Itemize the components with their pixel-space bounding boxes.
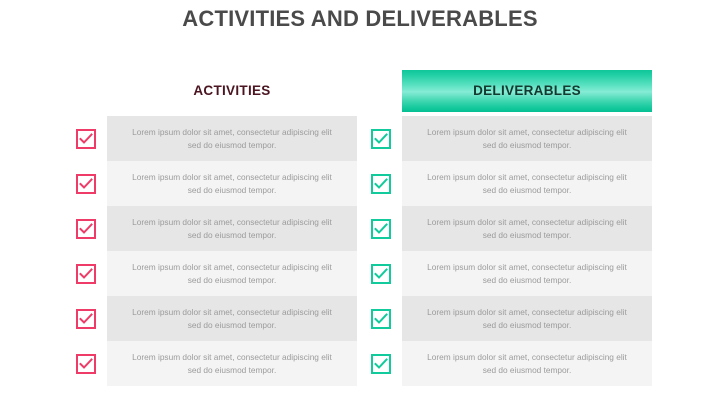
rows-activities: Lorem ipsum dolor sit amet, consectetur … bbox=[70, 116, 357, 386]
column-header-deliverables[interactable]: DELIVERABLES bbox=[402, 70, 652, 112]
row-panel: Lorem ipsum dolor sit amet, consectetur … bbox=[402, 296, 652, 341]
checkmark-icon bbox=[79, 358, 93, 370]
rows-deliverables: Lorem ipsum dolor sit amet, consectetur … bbox=[365, 116, 652, 386]
table-row[interactable]: Lorem ipsum dolor sit amet, consectetur … bbox=[70, 161, 357, 206]
columns-container: ACTIVITIES Lorem ipsum dolor sit amet, c… bbox=[0, 70, 720, 390]
checkbox-activities-2[interactable] bbox=[76, 174, 96, 194]
checkmark-icon bbox=[79, 223, 93, 235]
checkbox-activities-1[interactable] bbox=[76, 129, 96, 149]
checkmark-icon bbox=[79, 268, 93, 280]
checkbox-activities-6[interactable] bbox=[76, 354, 96, 374]
row-text: Lorem ipsum dolor sit amet, consectetur … bbox=[132, 126, 332, 152]
row-text: Lorem ipsum dolor sit amet, consectetur … bbox=[132, 306, 332, 332]
row-panel: Lorem ipsum dolor sit amet, consectetur … bbox=[402, 206, 652, 251]
table-row[interactable]: Lorem ipsum dolor sit amet, consectetur … bbox=[70, 116, 357, 161]
row-text: Lorem ipsum dolor sit amet, consectetur … bbox=[132, 261, 332, 287]
row-text: Lorem ipsum dolor sit amet, consectetur … bbox=[132, 351, 332, 377]
table-row[interactable]: Lorem ipsum dolor sit amet, consectetur … bbox=[365, 161, 652, 206]
checkmark-icon bbox=[374, 268, 388, 280]
table-row[interactable]: Lorem ipsum dolor sit amet, consectetur … bbox=[70, 341, 357, 386]
checkbox-deliverables-4[interactable] bbox=[371, 264, 391, 284]
row-text: Lorem ipsum dolor sit amet, consectetur … bbox=[427, 216, 627, 242]
checkmark-icon bbox=[374, 313, 388, 325]
row-panel: Lorem ipsum dolor sit amet, consectetur … bbox=[107, 296, 357, 341]
checkbox-activities-5[interactable] bbox=[76, 309, 96, 329]
row-panel: Lorem ipsum dolor sit amet, consectetur … bbox=[402, 116, 652, 161]
row-text: Lorem ipsum dolor sit amet, consectetur … bbox=[132, 171, 332, 197]
row-text: Lorem ipsum dolor sit amet, consectetur … bbox=[427, 261, 627, 287]
row-text: Lorem ipsum dolor sit amet, consectetur … bbox=[427, 306, 627, 332]
checkmark-icon bbox=[374, 358, 388, 370]
table-row[interactable]: Lorem ipsum dolor sit amet, consectetur … bbox=[365, 116, 652, 161]
column-activities: ACTIVITIES Lorem ipsum dolor sit amet, c… bbox=[70, 70, 357, 386]
column-header-activities[interactable]: ACTIVITIES bbox=[107, 70, 357, 112]
checkmark-icon bbox=[374, 178, 388, 190]
row-text: Lorem ipsum dolor sit amet, consectetur … bbox=[427, 351, 627, 377]
table-row[interactable]: Lorem ipsum dolor sit amet, consectetur … bbox=[70, 206, 357, 251]
row-panel: Lorem ipsum dolor sit amet, consectetur … bbox=[402, 341, 652, 386]
checkmark-icon bbox=[79, 133, 93, 145]
row-panel: Lorem ipsum dolor sit amet, consectetur … bbox=[107, 161, 357, 206]
checkbox-deliverables-2[interactable] bbox=[371, 174, 391, 194]
row-panel: Lorem ipsum dolor sit amet, consectetur … bbox=[402, 251, 652, 296]
table-row[interactable]: Lorem ipsum dolor sit amet, consectetur … bbox=[70, 296, 357, 341]
column-deliverables: DELIVERABLES Lorem ipsum dolor sit amet,… bbox=[365, 70, 652, 386]
row-text: Lorem ipsum dolor sit amet, consectetur … bbox=[427, 171, 627, 197]
table-row[interactable]: Lorem ipsum dolor sit amet, consectetur … bbox=[365, 296, 652, 341]
table-row[interactable]: Lorem ipsum dolor sit amet, consectetur … bbox=[365, 206, 652, 251]
row-text: Lorem ipsum dolor sit amet, consectetur … bbox=[427, 126, 627, 152]
checkmark-icon bbox=[79, 313, 93, 325]
table-row[interactable]: Lorem ipsum dolor sit amet, consectetur … bbox=[365, 341, 652, 386]
row-panel: Lorem ipsum dolor sit amet, consectetur … bbox=[107, 206, 357, 251]
table-row[interactable]: Lorem ipsum dolor sit amet, consectetur … bbox=[70, 251, 357, 296]
checkbox-deliverables-6[interactable] bbox=[371, 354, 391, 374]
row-panel: Lorem ipsum dolor sit amet, consectetur … bbox=[107, 116, 357, 161]
page-title: ACTIVITIES AND DELIVERABLES bbox=[0, 6, 720, 32]
checkbox-deliverables-1[interactable] bbox=[371, 129, 391, 149]
row-panel: Lorem ipsum dolor sit amet, consectetur … bbox=[107, 251, 357, 296]
checkbox-activities-3[interactable] bbox=[76, 219, 96, 239]
checkbox-deliverables-5[interactable] bbox=[371, 309, 391, 329]
row-text: Lorem ipsum dolor sit amet, consectetur … bbox=[132, 216, 332, 242]
checkbox-deliverables-3[interactable] bbox=[371, 219, 391, 239]
checkmark-icon bbox=[374, 223, 388, 235]
row-panel: Lorem ipsum dolor sit amet, consectetur … bbox=[107, 341, 357, 386]
checkbox-activities-4[interactable] bbox=[76, 264, 96, 284]
checkmark-icon bbox=[374, 133, 388, 145]
row-panel: Lorem ipsum dolor sit amet, consectetur … bbox=[402, 161, 652, 206]
slide-canvas: ACTIVITIES AND DELIVERABLES ACTIVITIES L… bbox=[0, 0, 720, 405]
table-row[interactable]: Lorem ipsum dolor sit amet, consectetur … bbox=[365, 251, 652, 296]
checkmark-icon bbox=[79, 178, 93, 190]
